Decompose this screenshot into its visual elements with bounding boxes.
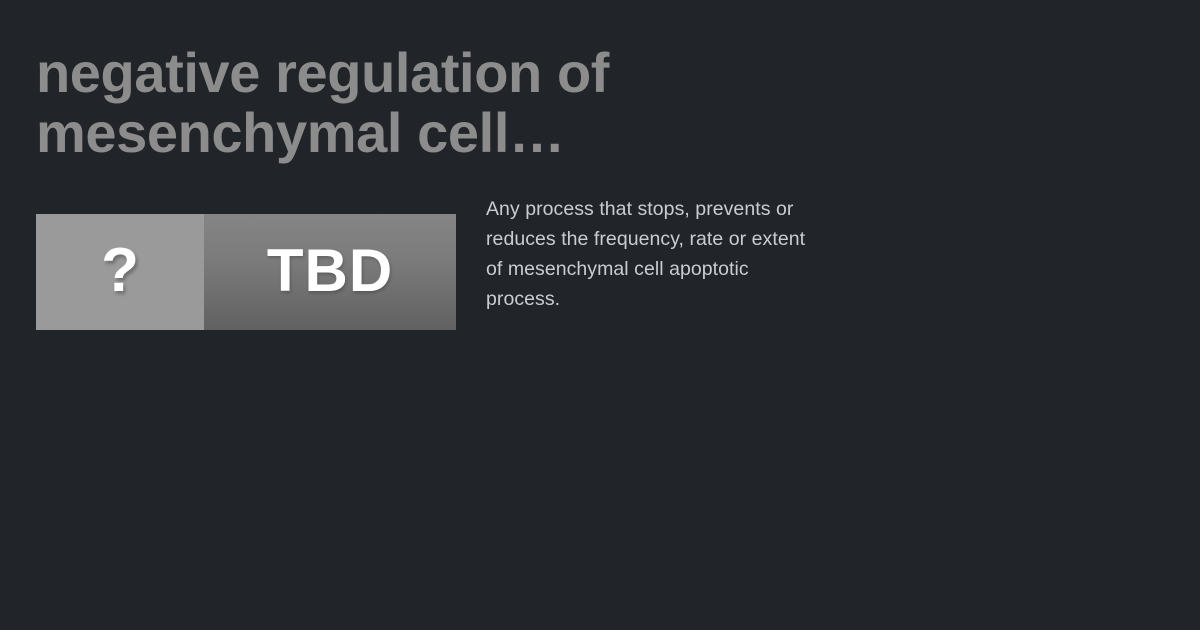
- social-card: negative regulation of mesenchymal cell……: [36, 0, 1164, 630]
- thumbnail-left-panel: ?: [36, 214, 204, 330]
- tbd-label: TBD: [267, 241, 393, 301]
- thumbnail-right-panel: TBD: [204, 214, 456, 330]
- content-row: ? TBD Any process that stops, prevents o…: [36, 214, 826, 334]
- question-mark-icon: ?: [101, 240, 139, 302]
- thumbnail-image: ? TBD: [36, 214, 456, 330]
- description-text: Any process that stops, prevents or redu…: [486, 194, 808, 314]
- page-title: negative regulation of mesenchymal cell…: [36, 43, 836, 163]
